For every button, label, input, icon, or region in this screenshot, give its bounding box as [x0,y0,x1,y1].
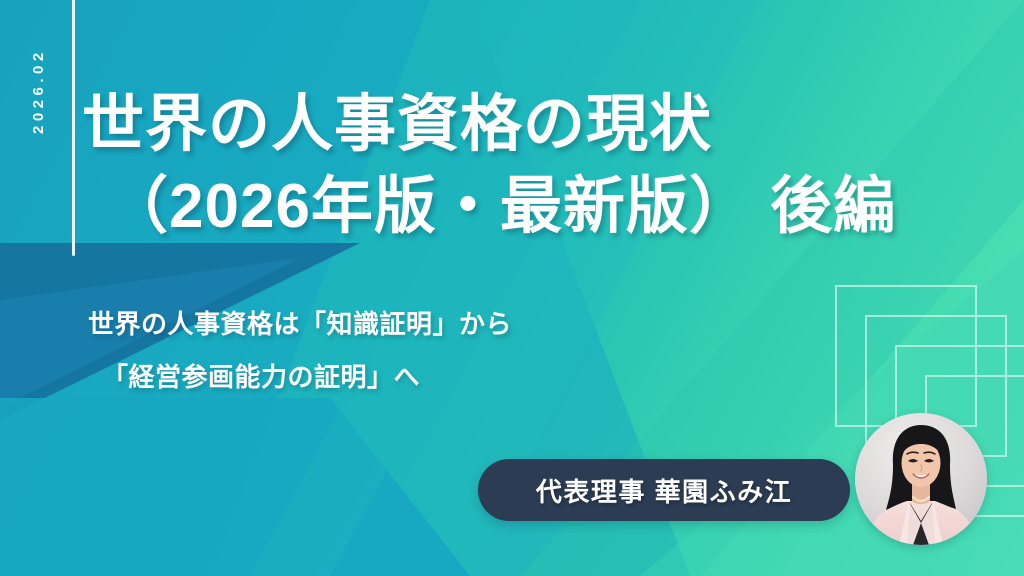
page-title: 世界の人事資格の現状 （2026年版・最新版） 後編 [82,84,982,248]
subtitle-line-2: 「経営参画能力の証明」へ [88,351,848,404]
avatar [855,413,987,545]
vertical-rule-divider [72,0,75,256]
presentation-title-slide: 2026.02 世界の人事資格の現状 （2026年版・最新版） 後編 世界の人事… [0,0,1024,576]
slide-date: 2026.02 [30,14,47,134]
title-line-1: 世界の人事資格の現状 [82,84,982,166]
page-subtitle: 世界の人事資格は「知識証明」から 「経営参画能力の証明」へ [88,298,848,403]
speaker-name-label: 代表理事 華園ふみ江 [536,472,792,509]
subtitle-line-1: 世界の人事資格は「知識証明」から [88,298,848,351]
title-line-2: （2026年版・最新版） 後編 [82,166,982,248]
speaker-name-badge: 代表理事 華園ふみ江 [478,459,850,521]
